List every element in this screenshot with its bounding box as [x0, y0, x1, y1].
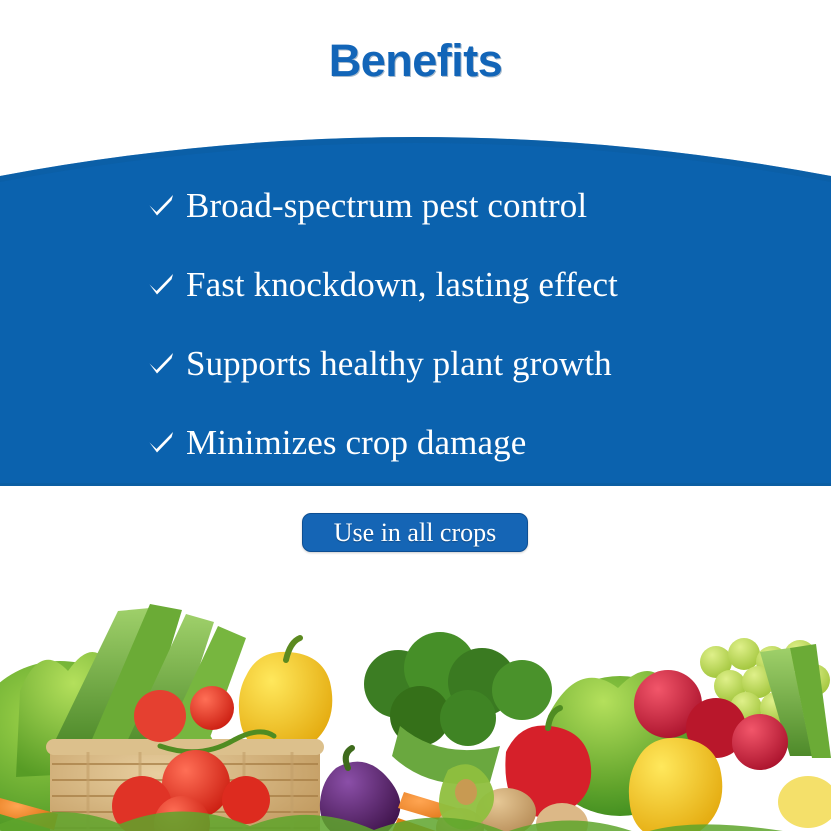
check-icon — [146, 191, 176, 221]
benefit-label: Fast knockdown, lasting effect — [186, 267, 618, 302]
vegetables-photo — [0, 556, 831, 831]
check-icon — [146, 349, 176, 379]
benefit-item-1: Broad-spectrum pest control — [0, 166, 831, 245]
benefit-item-4: Minimizes crop damage — [0, 403, 831, 482]
check-icon — [146, 270, 176, 300]
check-icon — [146, 428, 176, 458]
page-title: Benefits — [0, 38, 831, 83]
benefit-item-2: Fast knockdown, lasting effect — [0, 245, 831, 324]
use-in-all-crops-badge: Use in all crops — [302, 513, 528, 552]
benefit-item-3: Supports healthy plant growth — [0, 324, 831, 403]
benefit-label: Minimizes crop damage — [186, 425, 526, 460]
vegetables-photo-illustration — [0, 556, 831, 831]
benefits-list: Broad-spectrum pest control Fast knockdo… — [0, 166, 831, 482]
benefits-infographic: Benefits Broad-spectrum pest control Fas… — [0, 0, 831, 831]
benefit-label: Broad-spectrum pest control — [186, 188, 587, 223]
benefit-label: Supports healthy plant growth — [186, 346, 612, 381]
panel-bottom-rule — [0, 483, 831, 486]
